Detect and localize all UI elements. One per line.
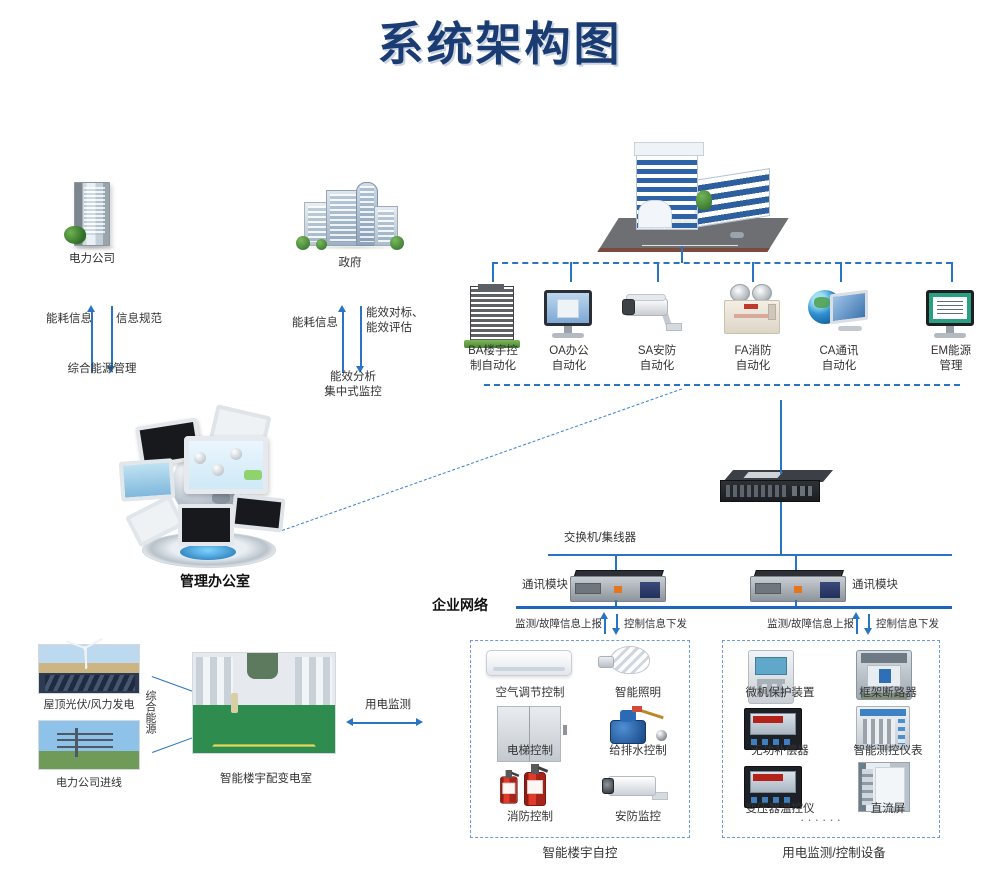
gov-benchmark-label: 能效对标、 能效评估 — [366, 306, 450, 336]
drop-ca — [840, 262, 842, 282]
substation-label: 智能楼宇配变电室 — [192, 772, 340, 787]
left-control-arrow-head — [612, 628, 620, 635]
fire-extinguisher-icon-2 — [524, 764, 546, 806]
info-spec-label: 信息规范 — [116, 312, 196, 327]
power-monitor-arrow-head-right — [416, 718, 423, 726]
page-title: 系统架构图 — [0, 8, 1000, 74]
emergency-light-icon — [722, 284, 784, 342]
subsystem-label-ca: CA通讯 自动化 — [798, 344, 880, 374]
info-spec-arrow-line — [111, 306, 113, 368]
integrated-energy-mgmt-label: 综合能源管理 — [32, 362, 172, 377]
comm-module-right-icon — [750, 570, 846, 604]
switch-label: 交换机/集线器 — [530, 531, 670, 546]
group-power-label-3: 智能测控仪表 — [838, 744, 938, 759]
group-building-label-4: 消防控制 — [480, 810, 580, 825]
drop-fa — [752, 262, 754, 282]
pv-wind-label: 屋顶光伏/风力发电 — [26, 698, 152, 713]
office-tower-icon — [62, 182, 122, 252]
right-report-arrow-line — [856, 618, 858, 634]
enterprise-network-label: 企业网络 — [432, 598, 512, 613]
switch-uplink-line — [780, 400, 782, 474]
gov-energy-info-label: 能耗信息 — [272, 316, 338, 331]
comm-module-right-label: 通讯模块 — [852, 578, 922, 593]
more-items-dots: ······ — [800, 812, 844, 827]
group-power-label-2: 无功补偿器 — [730, 744, 830, 759]
group-building-label-5: 安防监控 — [588, 810, 688, 825]
left-report-label: 监测/故障信息上报 — [478, 617, 602, 632]
architecture-diagram: 系统架构图 电力公司 能耗信息 信息规范 综合能源管理 政府 能耗信息 能效对标… — [0, 0, 1000, 889]
substation-room-photo-icon — [192, 652, 336, 754]
gov-energy-info-arrow-head — [338, 305, 346, 312]
subsystem-label-oa: OA办公 自动化 — [528, 344, 610, 374]
office-monitor-icon — [540, 288, 596, 344]
government-label: 政府 — [300, 256, 400, 271]
drop-sa — [657, 262, 659, 282]
drop-ba — [492, 262, 494, 282]
left-report-arrow-line — [604, 618, 606, 634]
comm-module-left-label: 通讯模块 — [498, 578, 568, 593]
energy-monitor-icon — [922, 288, 978, 344]
building-automation-group-caption: 智能楼宇自控 — [510, 846, 650, 861]
right-control-label: 控制信息下发 — [876, 617, 972, 632]
gov-benchmark-arrow-line — [360, 306, 362, 368]
building-bus-stem — [681, 246, 683, 263]
smart-building-icon — [608, 142, 778, 252]
group-building-label-3: 给排水控制 — [588, 744, 688, 759]
security-camera-icon — [622, 290, 684, 338]
subsystem-block-separator — [484, 384, 960, 386]
integrated-energy-arrow-label: 综合能源 — [140, 690, 156, 734]
group-power-label-0: 微机保护装置 — [730, 686, 830, 701]
transmission-tower-photo-icon — [38, 720, 140, 770]
power-monitoring-group-caption: 用电监测/控制设备 — [760, 846, 908, 861]
building-automation-icon — [464, 284, 520, 350]
switch-downlink-line — [780, 502, 782, 554]
comm-bus — [548, 554, 952, 556]
network-switch-icon — [720, 470, 830, 514]
drop-em — [951, 262, 953, 282]
subsystem-label-fa: FA消防 自动化 — [712, 344, 794, 374]
right-report-label: 监测/故障信息上报 — [730, 617, 854, 632]
gov-energy-info-arrow-line — [342, 311, 344, 373]
group-building-label-0: 空气调节控制 — [480, 686, 580, 701]
energy-analysis-label: 能效分析 集中式监控 — [300, 370, 406, 400]
cfl-bulb-icon — [598, 646, 650, 688]
air-conditioner-icon — [486, 650, 572, 676]
comm-module-left-icon — [570, 570, 666, 604]
power-monitor-arrow-label: 用电监测 — [348, 698, 428, 713]
group-power-label-1: 框架断路器 — [838, 686, 938, 701]
surveillance-camera-icon — [602, 770, 672, 806]
government-building-icon — [296, 180, 406, 250]
utility-line-label: 电力公司进线 — [30, 776, 148, 791]
enterprise-network-bus — [516, 606, 952, 609]
subsystem-bus — [492, 262, 952, 264]
drop-oa — [570, 262, 572, 282]
group-building-label-1: 智能照明 — [588, 686, 688, 701]
fire-extinguisher-icon — [500, 770, 518, 804]
group-power-label-5: 直流屏 — [838, 802, 938, 817]
globe-monitor-icon — [808, 286, 870, 342]
power-monitor-arrow-line — [352, 722, 418, 724]
monitor-cluster-globe-icon — [120, 408, 310, 578]
energy-info-label: 能耗信息 — [22, 312, 92, 327]
solar-wind-photo-icon — [38, 644, 140, 694]
power-company-label: 电力公司 — [42, 252, 142, 267]
management-office-label: 管理办公室 — [130, 574, 300, 589]
office-to-network-link — [282, 388, 682, 530]
group-building-label-2: 电梯控制 — [480, 744, 580, 759]
left-control-label: 控制信息下发 — [624, 617, 720, 632]
right-control-arrow-head — [864, 628, 872, 635]
energy-info-arrow-head — [87, 305, 95, 312]
power-monitor-arrow-head-left — [346, 718, 353, 726]
subsystem-label-em: EM能源 管理 — [910, 344, 992, 374]
subsystem-label-ba: BA楼宇控 制自动化 — [452, 344, 534, 374]
subsystem-label-sa: SA安防 自动化 — [616, 344, 698, 374]
